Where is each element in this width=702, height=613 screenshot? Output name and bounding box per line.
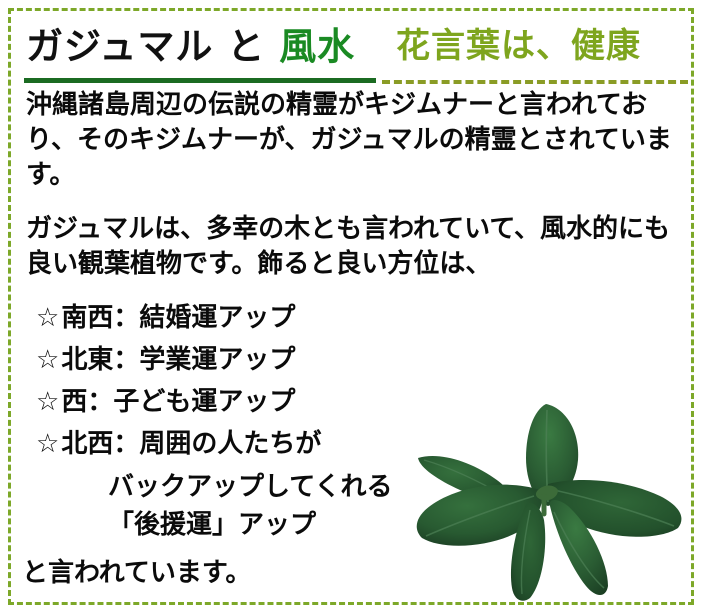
title-underline-solid: [24, 78, 376, 83]
list-item-label: 北西：周囲の人たちが: [61, 429, 321, 459]
list-item: ☆北東：学業運アップ: [36, 342, 466, 378]
header: ガジュマル と 風水 花言葉は、健康: [0, 16, 702, 86]
gajumaru-leaf-photo: [398, 398, 688, 604]
subtitle-underline-dashed: [382, 80, 688, 84]
page-title-prefix: ガジュマル と: [26, 25, 279, 68]
star-icon: ☆: [36, 384, 59, 420]
subtitle: 花言葉は、健康: [396, 18, 641, 67]
list-item-label: 西：子ども運アップ: [61, 387, 295, 417]
poster-card: ガジュマル と 風水 花言葉は、健康 沖縄諸島周辺の伝説の精霊がキジムナーと言わ…: [0, 0, 702, 613]
body-text: 沖縄諸島周辺の伝説の精霊がキジムナーと言われており、そのキジムナーが、ガジュマル…: [26, 88, 682, 282]
list-item-label: 南西：結婚運アップ: [61, 303, 295, 333]
star-icon: ☆: [36, 426, 59, 462]
page-title-accent: 風水: [279, 25, 355, 68]
closing-line: と言われています。: [22, 552, 251, 589]
page-title: ガジュマル と 風水: [26, 16, 355, 70]
paragraph-1: 沖縄諸島周辺の伝説の精霊がキジムナーと言われており、そのキジムナーが、ガジュマル…: [26, 88, 678, 193]
list-item: ☆南西：結婚運アップ: [36, 300, 466, 336]
list-item-label: 北東：学業運アップ: [61, 345, 295, 375]
paragraph-2: ガジュマルは、多幸の木とも言われていて、風水的にも良い観葉植物です。飾ると良い方…: [26, 212, 678, 282]
star-icon: ☆: [36, 342, 59, 378]
star-icon: ☆: [36, 300, 59, 336]
